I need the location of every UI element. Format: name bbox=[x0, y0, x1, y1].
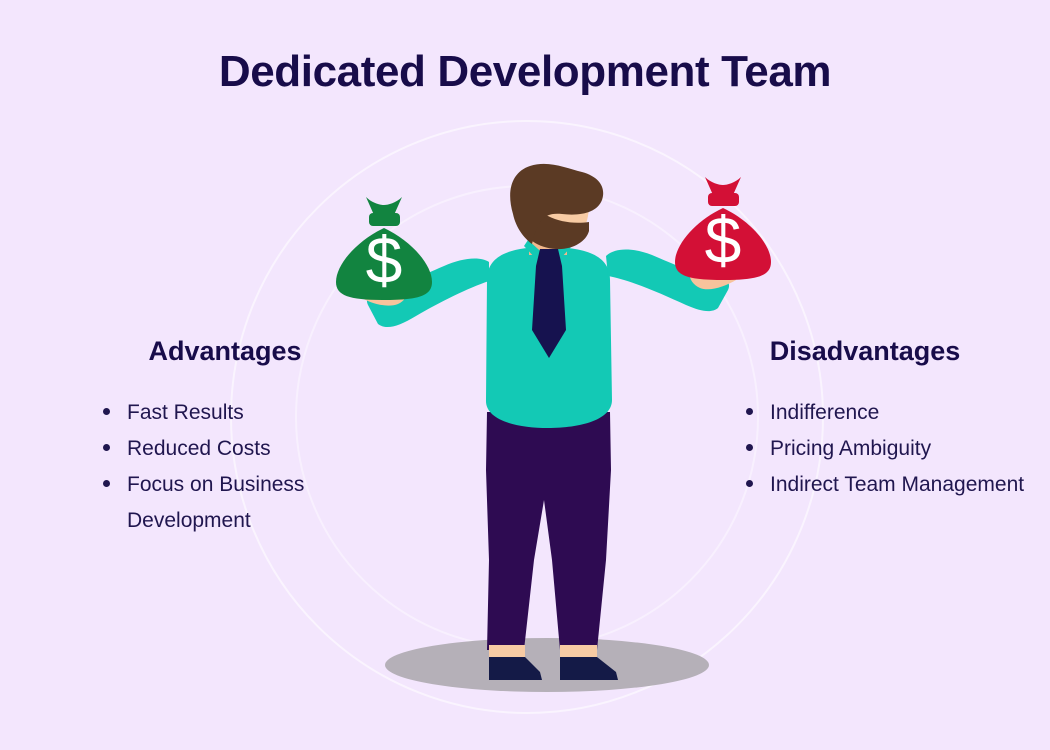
shoe-left bbox=[489, 657, 542, 680]
infographic-canvas: $ $ Dedicated Development Team Advantage… bbox=[0, 0, 1050, 750]
money-bag-green-neck bbox=[366, 197, 402, 215]
shoe-right bbox=[560, 657, 618, 680]
ankle-left bbox=[489, 645, 525, 659]
shirt-torso bbox=[486, 247, 612, 428]
advantages-heading: Advantages bbox=[60, 336, 390, 367]
list-item-label: Indifference bbox=[770, 401, 879, 424]
hand-left bbox=[352, 269, 407, 306]
list-item-label: Focus on Business Development bbox=[127, 473, 304, 532]
page-title: Dedicated Development Team bbox=[0, 48, 1050, 96]
advantages-column: Advantages Fast Results Reduced Costs Fo… bbox=[60, 336, 390, 539]
money-bag-red: $ bbox=[675, 177, 771, 280]
money-bag-red-tie bbox=[708, 193, 739, 206]
beard bbox=[520, 207, 589, 249]
ankle-right bbox=[560, 645, 597, 659]
money-bag-red-neck bbox=[705, 177, 741, 195]
money-bag-green-symbol: $ bbox=[366, 223, 403, 297]
list-item: Fast Results bbox=[95, 395, 390, 431]
list-item: Focus on Business Development bbox=[95, 467, 390, 539]
shirt-collar bbox=[524, 240, 572, 272]
list-item: Indifference bbox=[738, 395, 1030, 431]
money-bag-green: $ bbox=[336, 197, 432, 300]
tie-knot bbox=[536, 249, 562, 266]
list-item: Indirect Team Management bbox=[738, 467, 1030, 503]
arm-right-sleeve bbox=[606, 249, 729, 311]
list-item: Reduced Costs bbox=[95, 431, 390, 467]
bullet-dot-icon bbox=[746, 480, 753, 487]
bullet-dot-icon bbox=[746, 444, 753, 451]
hand-right bbox=[689, 252, 743, 289]
disadvantages-column: Disadvantages Indifference Pricing Ambig… bbox=[700, 336, 1030, 503]
money-bag-red-body bbox=[675, 208, 771, 280]
ground-shadow bbox=[385, 638, 709, 692]
list-item: Pricing Ambiguity bbox=[738, 431, 1030, 467]
bullet-dot-icon bbox=[103, 408, 110, 415]
arm-left-sleeve bbox=[367, 259, 489, 328]
money-bag-red-symbol: $ bbox=[705, 203, 742, 277]
list-item-label: Reduced Costs bbox=[127, 437, 271, 460]
face bbox=[516, 166, 589, 246]
bullet-dot-icon bbox=[746, 408, 753, 415]
hair bbox=[510, 164, 603, 244]
disadvantages-list: Indifference Pricing Ambiguity Indirect … bbox=[700, 395, 1030, 503]
advantages-list: Fast Results Reduced Costs Focus on Busi… bbox=[60, 395, 390, 539]
list-item-label: Fast Results bbox=[127, 401, 244, 424]
money-bag-green-tie bbox=[369, 213, 400, 226]
neck bbox=[529, 228, 567, 255]
bullet-dot-icon bbox=[103, 444, 110, 451]
tie-body bbox=[532, 266, 566, 358]
money-bag-green-body bbox=[336, 228, 432, 300]
trousers bbox=[486, 412, 611, 650]
list-item-label: Indirect Team Management bbox=[770, 473, 1024, 496]
bullet-dot-icon bbox=[103, 480, 110, 487]
list-item-label: Pricing Ambiguity bbox=[770, 437, 931, 460]
disadvantages-heading: Disadvantages bbox=[700, 336, 1030, 367]
